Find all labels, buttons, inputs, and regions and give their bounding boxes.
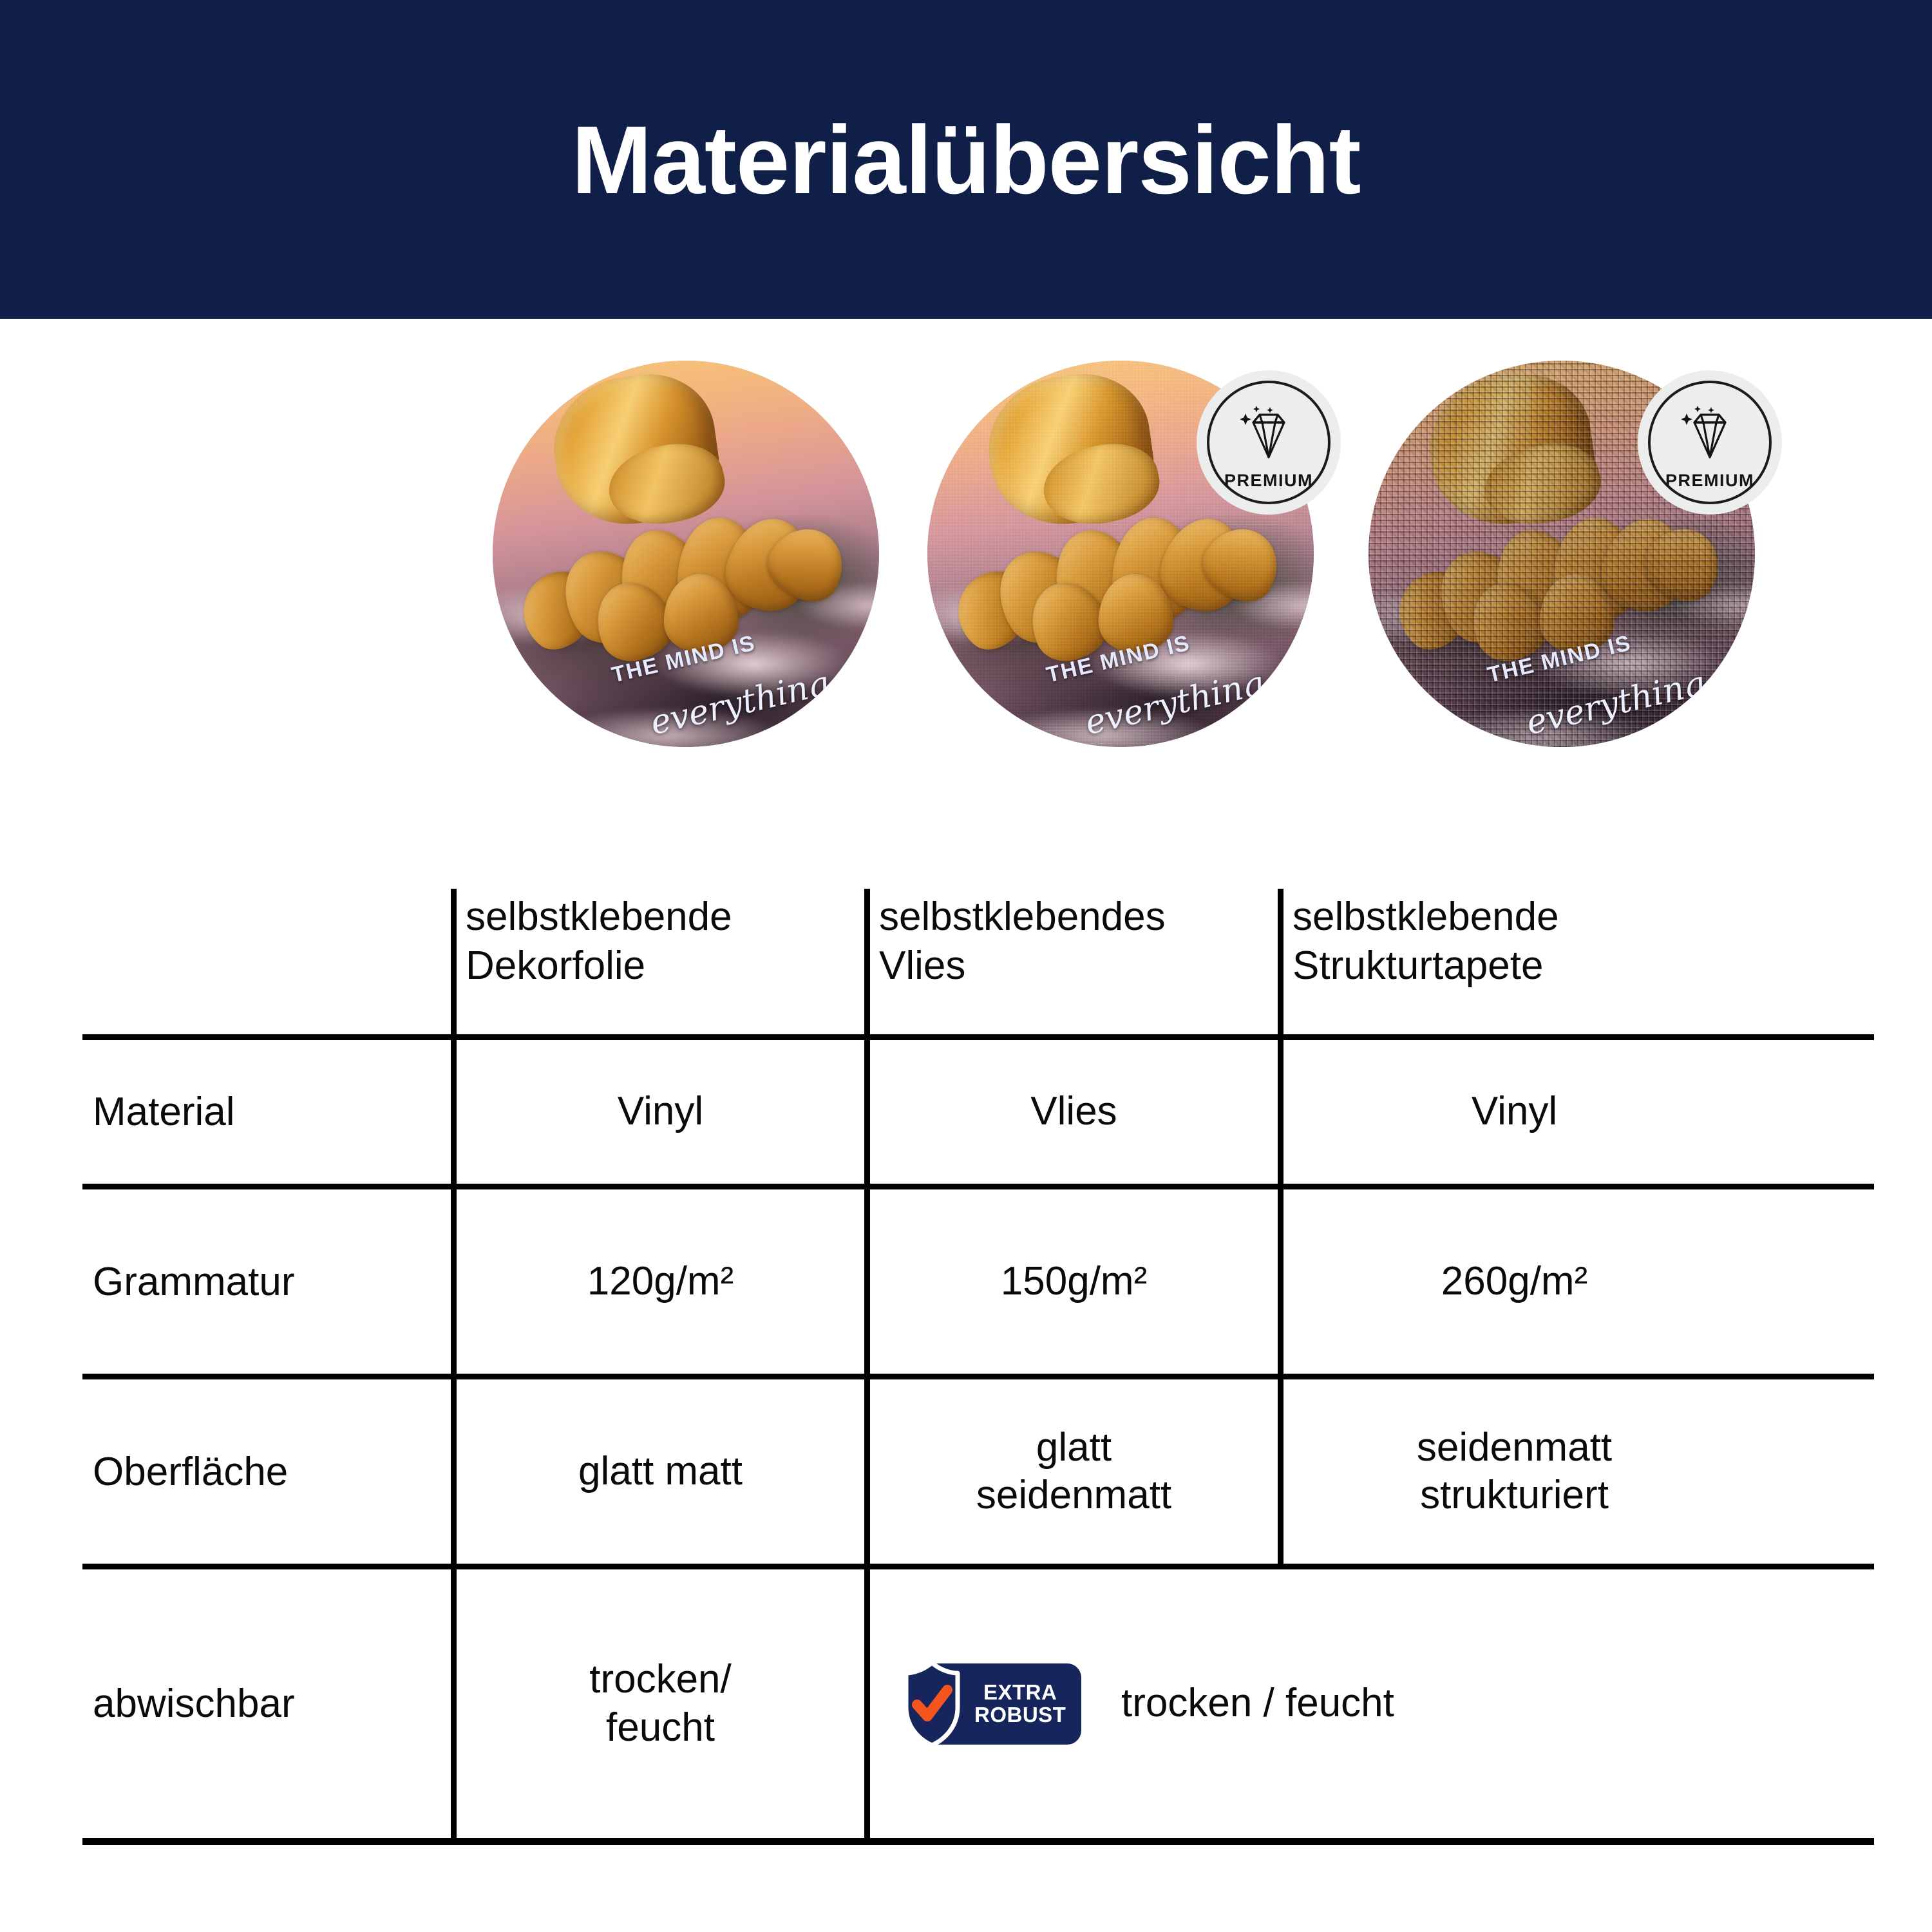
column-header-line2: Dekorfolie xyxy=(466,942,732,990)
premium-badge: PREMIUM xyxy=(1201,375,1336,510)
cell-value-line1: seidenmatt xyxy=(1417,1424,1612,1472)
row-label-text: Oberfläche xyxy=(93,1449,288,1495)
row-label-text: Grammatur xyxy=(93,1259,294,1305)
column-header-line1: selbstklebende xyxy=(1293,893,1559,942)
diamond-icon xyxy=(1675,403,1745,468)
preview-vlies[interactable]: THE MIND IS everything xyxy=(927,361,1314,747)
preview-strukturtapete[interactable]: THE MIND IS everything xyxy=(1368,361,1755,747)
cell-abwischbar-merged: EXTRA ROBUST trocken / feucht xyxy=(864,1569,1874,1838)
row-label-grammatur: Grammatur xyxy=(82,1189,451,1374)
cell-material-strukturtapete: Vinyl xyxy=(1278,1040,1745,1184)
cell-oberflaeche-vlies: glatt seidenmatt xyxy=(864,1379,1278,1564)
preview-image-dekorfolie: THE MIND IS everything xyxy=(493,361,879,747)
cell-value: trocken / feucht xyxy=(1121,1680,1394,1727)
extra-robust-badge: EXTRA ROBUST xyxy=(924,1663,1081,1745)
cell-material-dekorfolie: Vinyl xyxy=(451,1040,864,1184)
column-header-vlies: selbstklebendes Vlies xyxy=(864,889,1278,1034)
row-label-text: abwischbar xyxy=(93,1681,295,1727)
column-header-line1: selbstklebendes xyxy=(879,893,1166,942)
row-label-text: Material xyxy=(93,1089,235,1135)
table-row: abwischbar trocken/ feucht EXTRA xyxy=(82,1569,1874,1845)
table-header-row: selbstklebende Dekorfolie selbstklebende… xyxy=(82,889,1874,1040)
cell-value: 120g/m² xyxy=(587,1258,734,1305)
preview-dekorfolie[interactable]: THE MIND IS everything xyxy=(493,361,879,747)
extra-robust-label: EXTRA ROBUST xyxy=(974,1681,1066,1726)
cell-oberflaeche-dekorfolie: glatt matt xyxy=(451,1379,864,1564)
row-label-material: Material xyxy=(82,1040,451,1184)
column-header-strukturtapete: selbstklebende Strukturtapete xyxy=(1278,889,1745,1034)
cell-value: Vinyl xyxy=(1472,1088,1557,1135)
column-header-dekorfolie: selbstklebende Dekorfolie xyxy=(451,889,864,1034)
row-label-abwischbar: abwischbar xyxy=(82,1569,451,1838)
column-header-line1: selbstklebende xyxy=(466,893,732,942)
extra-robust-line1: EXTRA xyxy=(983,1680,1057,1704)
product-preview-row: THE MIND IS everything THE MIND I xyxy=(0,361,1932,760)
premium-badge: PREMIUM xyxy=(1642,375,1777,510)
column-header-line2: Vlies xyxy=(879,942,1166,990)
header-band: Materialübersicht xyxy=(0,0,1932,319)
cell-grammatur-dekorfolie: 120g/m² xyxy=(451,1189,864,1374)
cell-value-line2: seidenmatt xyxy=(976,1472,1171,1519)
cell-abwischbar-dekorfolie: trocken/ feucht xyxy=(451,1569,864,1838)
cell-oberflaeche-strukturtapete: seidenmatt strukturiert xyxy=(1278,1379,1745,1564)
cell-value-line1: glatt xyxy=(976,1424,1171,1472)
cell-value: Vlies xyxy=(1030,1088,1117,1135)
table-row: Oberfläche glatt matt glatt seidenmatt s… xyxy=(82,1379,1874,1569)
material-spec-table: selbstklebende Dekorfolie selbstklebende… xyxy=(82,889,1874,1845)
cell-value: 260g/m² xyxy=(1441,1258,1587,1305)
shield-check-icon xyxy=(902,1660,961,1748)
table-row: Material Vinyl Vlies Vinyl xyxy=(82,1040,1874,1189)
column-header-line2: Strukturtapete xyxy=(1293,942,1559,990)
row-label-oberflaeche: Oberfläche xyxy=(82,1379,451,1564)
page-title: Materialübersicht xyxy=(571,111,1360,208)
cell-value-line2: feucht xyxy=(589,1704,732,1752)
premium-badge-label: PREMIUM xyxy=(1665,471,1754,491)
cell-value: glatt matt xyxy=(578,1448,743,1495)
table-row: Grammatur 120g/m² 150g/m² 260g/m² xyxy=(82,1189,1874,1379)
extra-robust-line2: ROBUST xyxy=(974,1703,1066,1727)
cell-grammatur-vlies: 150g/m² xyxy=(864,1189,1278,1374)
premium-badge-label: PREMIUM xyxy=(1224,471,1313,491)
cell-value: Vinyl xyxy=(618,1088,703,1135)
cell-value: 150g/m² xyxy=(1001,1258,1147,1305)
table-corner-cell xyxy=(82,889,451,1034)
cell-value-line2: strukturiert xyxy=(1417,1472,1612,1519)
cell-value-line1: trocken/ xyxy=(589,1656,732,1703)
cell-material-vlies: Vlies xyxy=(864,1040,1278,1184)
diamond-icon xyxy=(1234,403,1303,468)
cell-grammatur-strukturtapete: 260g/m² xyxy=(1278,1189,1745,1374)
